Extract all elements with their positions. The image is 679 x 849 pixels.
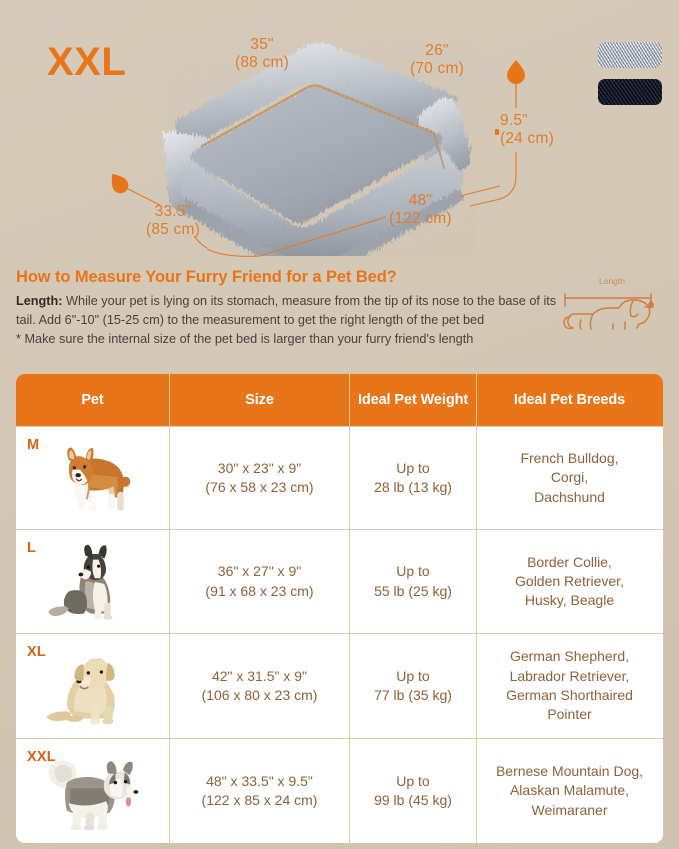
size-cell-m: 30" x 23" x 9" (76 x 58 x 23 cm) [169,427,349,529]
size-line2-l: (91 x 68 x 23 cm) [205,583,313,599]
dimension-width-top-metric: (88 cm) [235,54,289,71]
table-header-pet: Pet [16,374,169,426]
measure-body: Length: While your pet is lying on its s… [16,292,561,349]
weight-cell-xl: Up to 77 lb (35 kg) [349,634,476,738]
size-badge: XXL [47,42,126,82]
table-row: XXL [16,738,663,843]
size-chart-table: Pet Size Ideal Pet Weight Ideal Pet Bree… [15,373,664,844]
dimension-width-outer: 48" (122 cm) [389,192,452,229]
table-row: M [16,426,663,529]
dimension-depth-top-metric: (70 cm) [410,60,464,77]
measure-note: * Make sure the internal size of the pet… [16,330,561,349]
size-cell-l: 36" x 27" x 9" (91 x 68 x 23 cm) [169,530,349,633]
weight-line2-m: 28 lb (13 kg) [374,479,452,495]
breeds-cell-xl: German Shepherd, Labrador Retriever, Ger… [476,634,662,738]
weight-line1-l: Up to [396,563,429,579]
dimension-height-inches: 9.5" [500,112,528,129]
table-header-breeds: Ideal Pet Breeds [476,374,662,426]
pet-size-label-m: M [27,435,39,455]
weight-cell-xxl: Up to 99 lb (45 kg) [349,739,476,843]
dimension-width-outer-metric: (122 cm) [389,210,452,227]
size-line2-m: (76 x 58 x 23 cm) [205,479,313,495]
dog-length-diagram-label: Length [599,276,625,286]
swatch-black-faux-fur[interactable] [598,79,662,105]
pet-cell-xl: XL [16,634,169,738]
dimension-depth-outer-metric: (85 cm) [146,221,200,238]
breeds-cell-xxl: Bernese Mountain Dog, Alaskan Malamute, … [476,739,662,843]
pet-photo-border-collie [16,530,169,633]
table-row: XL [16,633,663,738]
size-cell-xxl: 48" x 33.5" x 9.5" (122 x 85 x 24 cm) [169,739,349,843]
breeds-cell-m: French Bulldog, Corgi, Dachshund [476,427,662,529]
pet-cell-m: M [16,427,169,529]
weight-line2-xxl: 99 lb (45 kg) [374,792,452,808]
hero-section: XXL [0,0,679,268]
dog-length-diagram: Length [559,276,663,340]
table-row: L [16,529,663,633]
measure-title: How to Measure Your Furry Friend for a P… [16,268,397,287]
dimension-height: 9.5" (24 cm) [500,112,554,149]
weight-line2-xl: 77 lb (35 kg) [374,687,452,703]
weight-cell-m: Up to 28 lb (13 kg) [349,427,476,529]
dimension-depth-outer: 33.5" (85 cm) [146,203,200,240]
dimension-depth-outer-inches: 33.5" [155,203,192,220]
color-swatch-list [598,42,662,116]
product-size-infographic: XXL [0,0,679,849]
table-header-weight: Ideal Pet Weight [349,374,476,426]
pet-cell-xxl: XXL [16,739,169,843]
size-line1-m: 30" x 23" x 9" [218,460,301,476]
weight-line1-xl: Up to [396,668,429,684]
dimension-height-metric: (24 cm) [500,130,554,147]
size-line1-l: 36" x 27" x 9" [218,563,301,579]
table-header-size: Size [169,374,349,426]
pet-size-label-l: L [27,538,36,558]
dimension-width-top: 35" (88 cm) [235,36,289,73]
size-cell-xl: 42" x 31.5" x 9" (106 x 80 x 23 cm) [169,634,349,738]
weight-cell-l: Up to 55 lb (25 kg) [349,530,476,633]
dimension-depth-top: 26" (70 cm) [410,42,464,79]
size-line2-xxl: (122 x 85 x 24 cm) [202,792,318,808]
size-line2-xl: (106 x 80 x 23 cm) [202,687,318,703]
pet-cell-l: L [16,530,169,633]
weight-line1-xxl: Up to [396,773,429,789]
measure-section: How to Measure Your Furry Friend for a P… [0,268,679,372]
size-line1-xl: 42" x 31.5" x 9" [212,668,307,684]
measure-text: While your pet is lying on its stomach, … [16,294,556,327]
table-header-row: Pet Size Ideal Pet Weight Ideal Pet Bree… [16,374,663,426]
pet-size-label-xxl: XXL [27,747,56,767]
dimension-width-top-inches: 35" [250,36,273,53]
size-line1-xxl: 48" x 33.5" x 9.5" [206,773,313,789]
swatch-light-grey-faux-fur[interactable] [598,42,662,68]
weight-line2-l: 55 lb (25 kg) [374,583,452,599]
dimension-depth-top-inches: 26" [425,42,448,59]
measure-label: Length: [16,294,63,308]
dimension-width-outer-inches: 48" [409,192,432,209]
breeds-cell-l: Border Collie, Golden Retriever, Husky, … [476,530,662,633]
weight-line1-m: Up to [396,460,429,476]
pet-size-label-xl: XL [27,642,46,662]
